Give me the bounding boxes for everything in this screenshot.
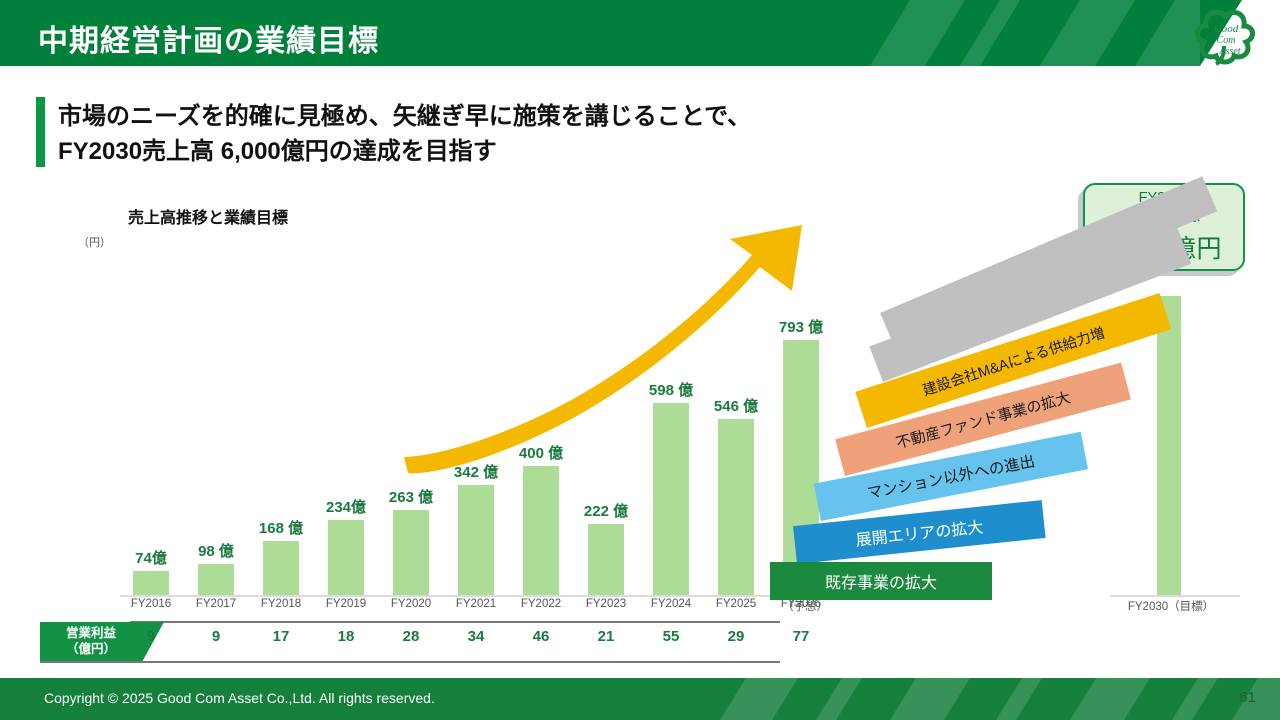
bar — [263, 541, 299, 595]
bar — [198, 564, 234, 596]
bar-group: 234億 — [315, 250, 377, 595]
subtitle-accent-bar — [36, 97, 45, 167]
x-tick-label: FY2016 — [120, 598, 182, 610]
x-tick-label: FY2022 — [510, 598, 572, 610]
chart-x-axis — [120, 595, 850, 597]
x-tick-label: FY2020 — [380, 598, 442, 610]
growth-band: 既存事業の拡大 — [770, 562, 992, 600]
bar — [133, 571, 169, 595]
footer-decoration — [720, 678, 1280, 720]
subtitle-line-1: 市場のニーズを的確に見極め、矢継ぎ早に施策を講じることで、 — [58, 100, 958, 135]
bar — [523, 466, 559, 595]
x-tick-label: FY2017 — [185, 598, 247, 610]
slide-header: 中期経営計画の業績目標 — [0, 0, 1200, 66]
chart-y-axis-unit: （円） — [78, 234, 111, 250]
chart-title: 売上高推移と業績目標 — [128, 204, 288, 228]
x-tick-label: FY2019 — [315, 598, 377, 610]
profit-value: 17 — [250, 628, 312, 645]
bar — [458, 485, 494, 595]
bar-group: 168 億 — [250, 250, 312, 595]
slide-root: 中期経営計画の業績目標 Good Com Asset 市場のニーズを的確に見極め… — [0, 0, 1280, 720]
profit-value: 34 — [445, 628, 507, 645]
bar-value-label: 263 億 — [389, 486, 433, 507]
profit-value: 9 — [185, 628, 247, 645]
profit-table-bottom-rule — [40, 661, 780, 663]
profit-value: 29 — [705, 628, 767, 645]
profit-row-label-line-1: 営業利益 — [66, 626, 116, 642]
slide-footer: Copyright © 2025 Good Com Asset Co.,Ltd.… — [0, 678, 1280, 720]
profit-value: 46 — [510, 628, 572, 645]
profit-value: 77 — [770, 628, 832, 645]
logo-text-asset: Asset — [1218, 46, 1240, 57]
bar-value-label: 74億 — [135, 547, 167, 568]
x-tick-label: FY2021 — [445, 598, 507, 610]
header-decoration — [870, 0, 1200, 66]
profit-value: 9 — [120, 628, 182, 645]
page-number: 61 — [1239, 689, 1256, 706]
good-com-asset-logo: Good Com Asset — [1190, 6, 1262, 68]
x-tick-label: FY2023 — [575, 598, 637, 610]
target-x-label: FY2030（目標） — [1096, 598, 1246, 614]
logo-text-com: Com — [1217, 35, 1236, 46]
subtitle-line-2: FY2030売上高 6,000億円の達成を目指す — [58, 135, 958, 170]
bar — [393, 510, 429, 595]
logo-text-good: Good — [1214, 23, 1239, 35]
profit-value: 21 — [575, 628, 637, 645]
bar — [328, 520, 364, 595]
profit-row-label-line-2: （億円） — [66, 642, 116, 658]
bar-value-label: 234億 — [326, 496, 366, 517]
bar-value-label: 168 億 — [259, 517, 303, 538]
chart-x-tick-labels: FY2016FY2017FY2018FY2019FY2020FY2021FY20… — [120, 598, 840, 618]
subtitle: 市場のニーズを的確に見極め、矢継ぎ早に施策を講じることで、 FY2030売上高 … — [58, 100, 958, 170]
profit-value: 18 — [315, 628, 377, 645]
bar-value-label: 222 億 — [584, 500, 628, 521]
growth-arrow — [400, 225, 900, 485]
profit-values-row: 99171828344621552977 — [120, 628, 840, 656]
growth-band-label: 既存事業の拡大 — [770, 569, 992, 593]
bar — [588, 524, 624, 595]
x-tick-label: FY2024 — [640, 598, 702, 610]
page-title: 中期経営計画の業績目標 — [38, 16, 379, 60]
profit-value: 28 — [380, 628, 442, 645]
chart-x-suffix-label: （予想） — [782, 598, 828, 614]
copyright-text: Copyright © 2025 Good Com Asset Co.,Ltd.… — [44, 690, 435, 706]
profit-value: 55 — [640, 628, 702, 645]
bar-group: 74億 — [120, 250, 182, 595]
profit-table-top-rule — [130, 621, 780, 623]
x-tick-label: FY2018 — [250, 598, 312, 610]
bar-value-label: 98 億 — [198, 540, 234, 561]
bar-group: 98 億 — [185, 250, 247, 595]
